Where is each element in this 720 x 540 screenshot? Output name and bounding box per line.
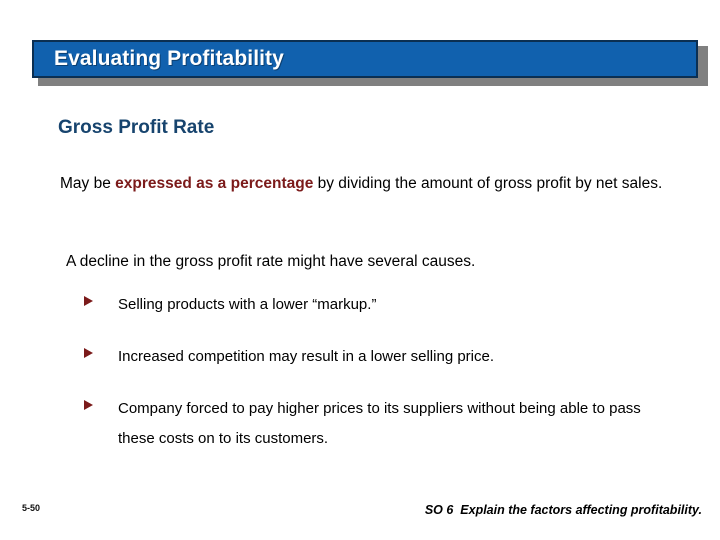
triangle-right-bullet-icon <box>84 394 118 410</box>
paragraph-1-highlight: expressed as a percentage <box>115 175 313 192</box>
paragraph-gross-profit-rate-definition: May be expressed as a percentage by divi… <box>60 168 668 199</box>
list-item-label: Company forced to pay higher prices to i… <box>118 394 674 454</box>
slide-title-bar: Evaluating Profitability <box>32 40 708 82</box>
list-item: Increased competition may result in a lo… <box>84 342 674 372</box>
slide-title: Evaluating Profitability <box>34 47 284 71</box>
learning-objective-note: SO 6 Explain the factors affecting profi… <box>0 503 702 517</box>
list-item: Company forced to pay higher prices to i… <box>84 394 674 454</box>
list-item: Selling products with a lower “markup.” <box>84 290 674 320</box>
section-heading: Gross Profit Rate <box>58 117 214 139</box>
presentation-slide: Evaluating Profitability Gross Profit Ra… <box>0 0 720 540</box>
title-bar-fill: Evaluating Profitability <box>32 40 698 78</box>
triangle-right-bullet-icon <box>84 290 118 306</box>
paragraph-decline-causes-intro: A decline in the gross profit rate might… <box>66 246 670 277</box>
list-item-label: Increased competition may result in a lo… <box>118 342 674 372</box>
bullet-list: Selling products with a lower “markup.” … <box>84 290 674 454</box>
paragraph-1-suffix: by dividing the amount of gross profit b… <box>313 175 662 192</box>
triangle-right-bullet-icon <box>84 342 118 358</box>
list-item-label: Selling products with a lower “markup.” <box>118 290 674 320</box>
learning-objective-text: Explain the factors affecting profitabil… <box>460 503 702 517</box>
learning-objective-label: SO 6 <box>425 503 454 517</box>
paragraph-1-prefix: May be <box>60 175 115 192</box>
